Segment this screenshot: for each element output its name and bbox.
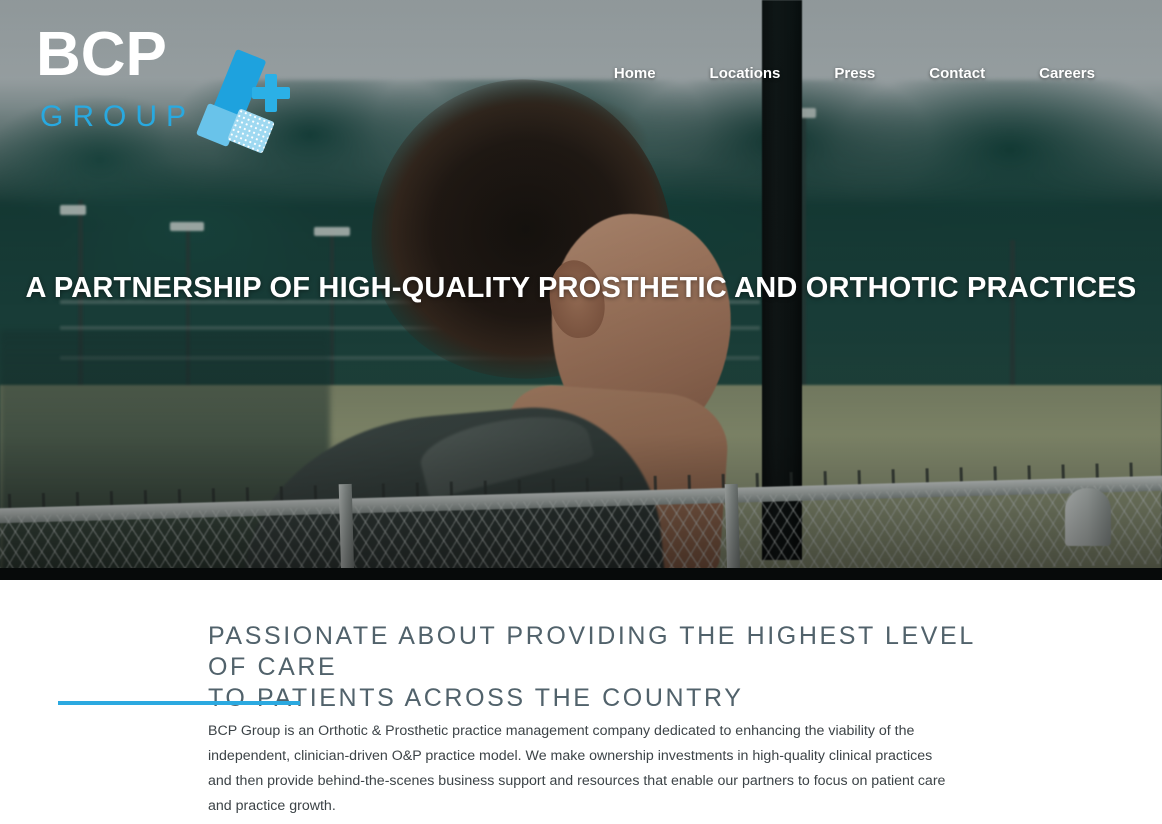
main-navigation: Home Locations Press Contact Careers xyxy=(587,63,1122,85)
nav-item-home[interactable]: Home xyxy=(587,63,683,85)
nav-item-locations[interactable]: Locations xyxy=(683,63,808,85)
logo-wordmark-secondary: GROUP xyxy=(40,102,195,132)
intro-section: PASSIONATE ABOUT PROVIDING THE HIGHEST L… xyxy=(0,580,1162,824)
accent-divider xyxy=(58,701,300,705)
logo-plus-icon xyxy=(252,74,290,112)
hero-headline: A PARTNERSHIP OF HIGH-QUALITY PROSTHETIC… xyxy=(0,272,1162,305)
hero-banner: BCP GROUP Home Locations Press Contact C… xyxy=(0,0,1162,580)
logo-wordmark-primary: BCP xyxy=(36,22,167,88)
nav-item-careers[interactable]: Careers xyxy=(1012,63,1122,85)
nav-item-contact[interactable]: Contact xyxy=(902,63,1012,85)
section-heading: PASSIONATE ABOUT PROVIDING THE HIGHEST L… xyxy=(208,621,1008,714)
site-logo[interactable]: BCP GROUP xyxy=(36,22,286,122)
nav-item-press[interactable]: Press xyxy=(807,63,902,85)
hero-bottom-band xyxy=(0,568,1162,580)
section-body-text: BCP Group is an Orthotic & Prosthetic pr… xyxy=(208,719,950,819)
page-root: BCP GROUP Home Locations Press Contact C… xyxy=(0,0,1162,824)
